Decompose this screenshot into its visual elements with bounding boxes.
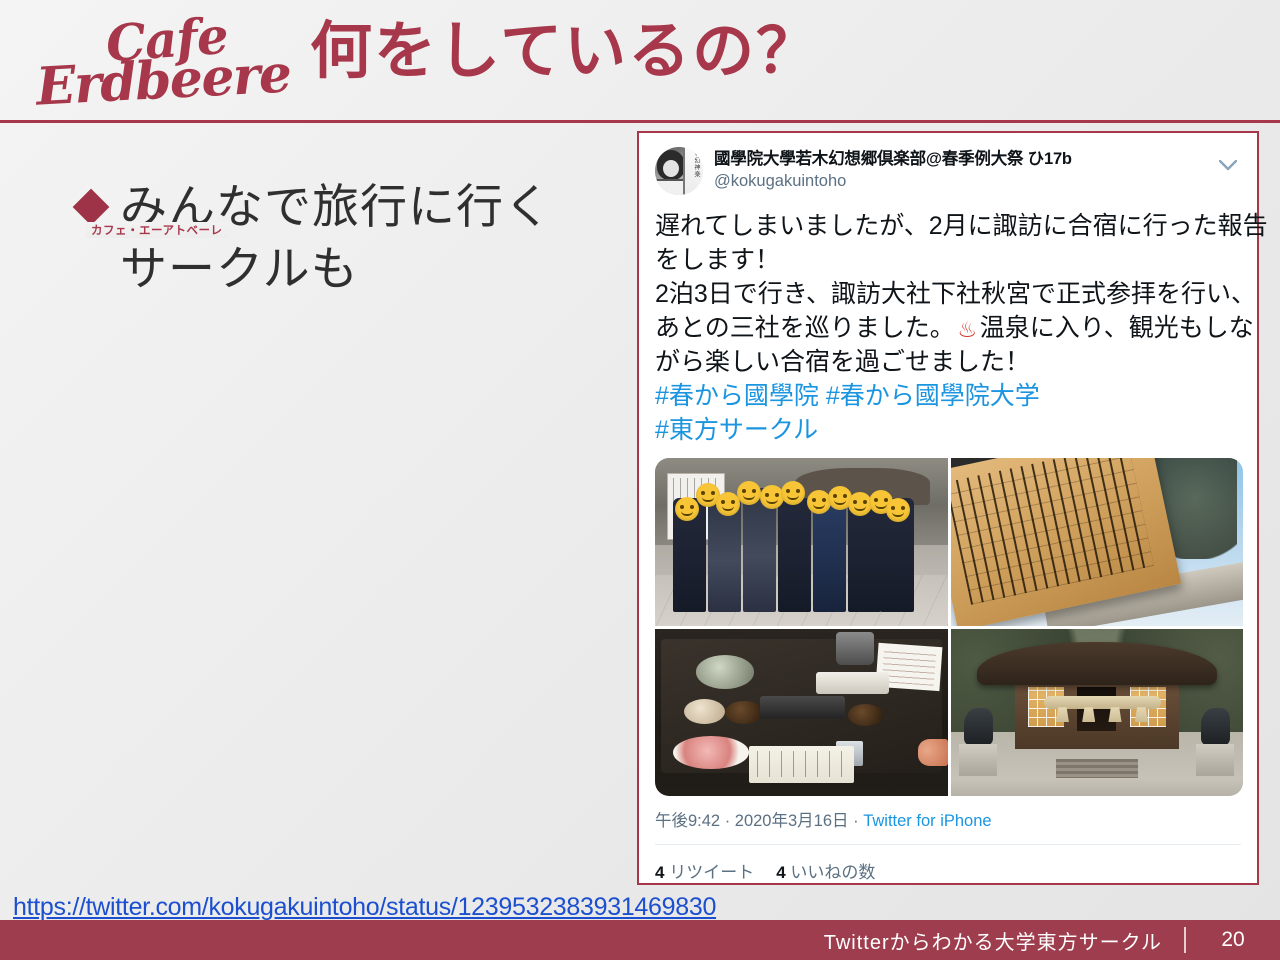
avatar[interactable]: わ幻神楽 (655, 147, 703, 195)
bullet-item: みんなで旅行に行く サークルも (120, 176, 552, 300)
photo3-hand (918, 739, 947, 766)
tweet-divider (655, 844, 1241, 845)
avatar-sign-text: わ幻神楽 (692, 150, 699, 178)
face-emoji-icon (675, 497, 699, 521)
photo3-slate-plate (760, 696, 845, 719)
like-stat[interactable]: 4 いいねの数 (776, 858, 875, 883)
like-count: 4 (776, 863, 785, 882)
footer-title: Twitterからわかる大学東方サークル (824, 926, 1184, 955)
tweet-media-image-2[interactable] (951, 458, 1244, 626)
tweet-text-line-1: 遅れてしまいましたが、2月に諏訪に合宿に行った報告 (655, 209, 1241, 243)
tweet-hashtags-line-2[interactable]: #東方サークル (655, 413, 1241, 447)
photo1-person (848, 498, 881, 612)
logo-subtitle: カフェ・エーアトベーレ (86, 222, 228, 238)
bullet-list: みんなで旅行に行く サークルも (78, 176, 618, 300)
face-emoji-icon (807, 490, 831, 514)
slide-header: Cafe Erdbeere 何をしているの？ カフェ・エーアトベーレ (0, 0, 1280, 128)
brand-logo: Cafe Erdbeere (34, 14, 286, 114)
photo4-komainu-statue (1196, 709, 1234, 776)
avatar-face (663, 160, 679, 177)
slide-canvas: Cafe Erdbeere 何をしているの？ カフェ・エーアトベーレ みんなで旅… (0, 0, 1280, 960)
bullet-line-2: サークルも (120, 238, 552, 300)
photo3-meat-plate (673, 736, 749, 770)
retweet-stat[interactable]: 4 リツイート (655, 858, 754, 883)
photo3-hotpot-bowl (696, 655, 755, 689)
avatar-sign-panel: わ幻神楽 (683, 147, 703, 195)
retweet-label: リツイート (669, 863, 754, 882)
tweet-display-name: 國學院大學若木幻想郷倶楽部@春季例大祭 ひ17b (714, 148, 1072, 170)
tweet-text-line-2: をします！ (655, 243, 1241, 277)
tweet-stats: 4 リツイート 4 いいねの数 (655, 858, 1241, 883)
tweet-text-line-3: 2泊3日で行き、諏訪大社下社秋宮で正式参拝を行い、 (655, 277, 1241, 311)
photo4-shimenawa-rope (1044, 696, 1161, 709)
avatar-body (656, 179, 686, 195)
tweet-media-image-4[interactable] (951, 629, 1244, 797)
tweet-timestamp: 午後9:42 · 2020年3月16日 · (655, 812, 863, 830)
header-rule (0, 120, 1280, 123)
tweet-media-grid (655, 458, 1243, 796)
tweet-media-image-1[interactable] (655, 458, 948, 626)
slide-footer: Twitterからわかる大学東方サークル 20 (0, 920, 1280, 960)
tweet-media-image-3[interactable] (655, 629, 948, 797)
page-number: 20 (1186, 928, 1280, 952)
tweet-text-line-4b: 温泉に入り、観光もしな (980, 314, 1254, 342)
like-label: いいねの数 (790, 863, 875, 882)
tweet-hashtags-line-1[interactable]: #春から國學院 #春から國學院大学 (655, 379, 1241, 413)
photo3-kettle (836, 632, 874, 666)
photo3-sauce-dish (725, 701, 763, 724)
photo3-sashimi-plate (816, 672, 889, 694)
photo4-entrance (1077, 687, 1116, 731)
diamond-bullet-icon (73, 189, 110, 226)
photo4-komainu-statue (959, 709, 997, 776)
hot-spring-emoji-icon: ♨ (955, 315, 980, 345)
tweet-text-line-5: がら楽しい合宿を過ごせました！ (655, 345, 1241, 379)
tweet-handle[interactable]: @kokugakuintoho (714, 170, 1072, 192)
photo3-printed-menu (749, 746, 854, 783)
photo3-sauce-dish (684, 699, 725, 724)
photo3-sauce-dish (848, 704, 883, 726)
retweet-count: 4 (655, 863, 664, 882)
tweet-text-line-4: あとの三社を巡りました。♨温泉に入り、観光もしな (655, 311, 1241, 345)
source-url-link[interactable]: https://twitter.com/kokugakuintoho/statu… (13, 893, 716, 922)
page-title: 何をしているの？ (310, 18, 820, 86)
tweet-text-line-4a: あとの三社を巡りました。 (655, 314, 955, 342)
photo4-plaza (951, 778, 1244, 796)
tweet-timestamp-row: 午後9:42 · 2020年3月16日 · Twitter for iPhone (655, 810, 1241, 833)
tweet-header: わ幻神楽 國學院大學若木幻想郷倶楽部@春季例大祭 ひ17b @kokugakui… (655, 147, 1241, 203)
tweet-source-client[interactable]: Twitter for iPhone (863, 812, 991, 830)
photo1-person (778, 498, 811, 612)
logo-text-erdbeere: Erdbeere (35, 43, 292, 117)
header-divider: カフェ・エーアトベーレ (0, 120, 1280, 123)
tweet-card[interactable]: わ幻神楽 國學院大學若木幻想郷倶楽部@春季例大祭 ひ17b @kokugakui… (637, 131, 1259, 885)
tweet-author: 國學院大學若木幻想郷倶楽部@春季例大祭 ひ17b @kokugakuintoho (714, 147, 1072, 193)
tweet-text: 遅れてしまいましたが、2月に諏訪に合宿に行った報告 をします！ 2泊3日で行き、… (655, 209, 1241, 447)
photo4-shrine-hall (1015, 679, 1179, 749)
chevron-down-icon[interactable] (1215, 153, 1241, 179)
